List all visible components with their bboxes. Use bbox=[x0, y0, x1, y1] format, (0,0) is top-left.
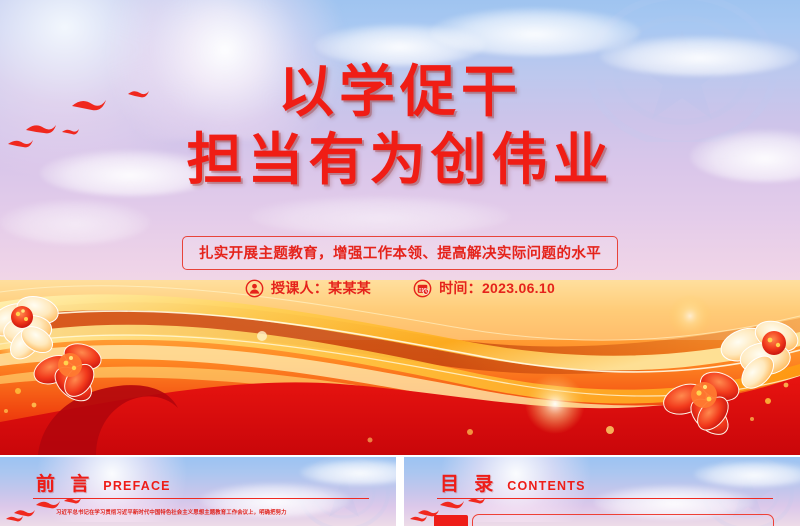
cover-title-line-2: 担当有为创伟业 bbox=[0, 130, 800, 190]
date-label: 时间：2023.06.10 bbox=[439, 278, 555, 298]
preface-heading: 前 言 PREFACE bbox=[36, 469, 171, 496]
preface-title-cn: 前 言 bbox=[36, 469, 94, 496]
preface-title-en: PREFACE bbox=[103, 479, 170, 493]
presenter-label: 授课人：某某某 bbox=[271, 278, 371, 298]
cover-subtitle-wrap: 扎实开展主题教育，增强工作本领、提高解决实际问题的水平 bbox=[0, 236, 800, 270]
peony-flowers-right-icon bbox=[648, 289, 800, 449]
contents-item-outline bbox=[472, 514, 774, 526]
calendar-circle-icon bbox=[413, 279, 432, 298]
contents-accent-block bbox=[434, 515, 468, 526]
thumbnail-contents[interactable]: 目 录 CONTENTS bbox=[404, 457, 800, 526]
peony-flowers-left-icon bbox=[0, 287, 144, 437]
preface-body-text: 习近平总书记在学习贯彻习近平新时代中国特色社会主义思想主题教育工作会议上，明确把… bbox=[56, 508, 386, 516]
cover-slide[interactable]: 以学促干 担当有为创伟业 扎实开展主题教育，增强工作本领、提高解决实际问题的水平… bbox=[0, 0, 800, 455]
presenter-meta-item: 授课人：某某某 bbox=[245, 278, 371, 298]
slide-deck-preview: 以学促干 担当有为创伟业 扎实开展主题教育，增强工作本领、提高解决实际问题的水平… bbox=[0, 0, 800, 526]
contents-divider bbox=[437, 498, 773, 499]
contents-heading: 目 录 CONTENTS bbox=[440, 469, 586, 496]
ribbon-band bbox=[0, 280, 800, 455]
contents-title-cn: 目 录 bbox=[440, 469, 498, 496]
cover-title-line-1: 以学促干 bbox=[0, 62, 800, 122]
cloud bbox=[250, 196, 510, 236]
preface-divider bbox=[33, 498, 369, 499]
cover-title-block: 以学促干 担当有为创伟业 bbox=[0, 62, 800, 190]
date-meta-item: 时间：2023.06.10 bbox=[413, 278, 555, 298]
thumbnail-strip: 前 言 PREFACE 习近平总书记在学习贯彻习近平新时代中国特色社会主义思想主… bbox=[0, 457, 800, 526]
contents-title-en: CONTENTS bbox=[507, 479, 585, 493]
thumbnail-preface[interactable]: 前 言 PREFACE 习近平总书记在学习贯彻习近平新时代中国特色社会主义思想主… bbox=[0, 457, 396, 526]
cover-meta-row: 授课人：某某某 时间：2023.06.10 bbox=[0, 278, 800, 298]
cover-subtitle-text: 扎实开展主题教育，增强工作本领、提高解决实际问题的水平 bbox=[199, 246, 601, 262]
person-circle-icon bbox=[245, 279, 264, 298]
cover-subtitle-box: 扎实开展主题教育，增强工作本领、提高解决实际问题的水平 bbox=[182, 236, 618, 270]
